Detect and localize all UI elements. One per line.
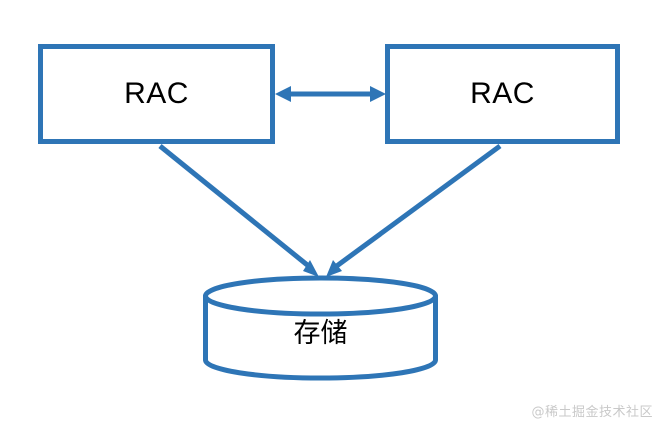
diagram-canvas: RAC RAC 存储 @稀土掘金技术社区 bbox=[0, 0, 663, 428]
rac-to-rac-arrowhead-left bbox=[275, 86, 291, 102]
rac-to-rac-connector[interactable] bbox=[275, 86, 386, 102]
rac-left-label: RAC bbox=[38, 44, 275, 144]
watermark: @稀土掘金技术社区 bbox=[531, 401, 653, 420]
rac-to-rac-arrowhead-right bbox=[370, 86, 386, 102]
rac-right-to-storage-line bbox=[334, 146, 500, 268]
rac-left-to-storage-line bbox=[160, 146, 311, 268]
rac-right-label: RAC bbox=[385, 44, 620, 144]
storage-label: 存储 bbox=[203, 295, 438, 365]
rac-left-to-storage-connector[interactable] bbox=[160, 146, 319, 277]
rac-right-to-storage-connector[interactable] bbox=[326, 146, 500, 277]
